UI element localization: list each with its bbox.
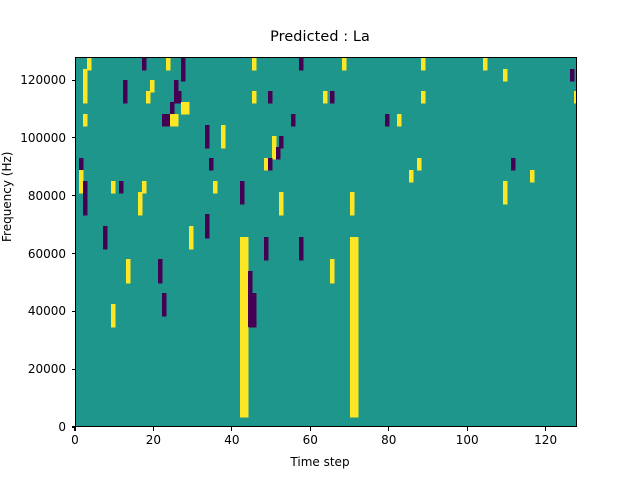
- y-tick-label: 120000: [0, 73, 66, 87]
- x-tick-mark: [545, 427, 546, 431]
- x-tick-label: 0: [71, 433, 79, 447]
- matplotlib-figure: Predicted : La 0200004000060000800001000…: [0, 0, 640, 480]
- heatmap-axes: [75, 57, 577, 427]
- x-tick-label: 100: [456, 433, 479, 447]
- x-tick-label: 60: [303, 433, 318, 447]
- x-tick-label: 80: [381, 433, 396, 447]
- x-tick-mark: [153, 427, 154, 431]
- y-tick-label: 60000: [0, 247, 66, 261]
- y-tick-label: 20000: [0, 362, 66, 376]
- x-tick-label: 40: [224, 433, 239, 447]
- x-tick-mark: [467, 427, 468, 431]
- y-tick-label: 0: [0, 420, 66, 434]
- heatmap-canvas: [76, 58, 577, 427]
- x-tick-mark: [388, 427, 389, 431]
- y-tick-label: 100000: [0, 131, 66, 145]
- x-tick-mark: [74, 427, 75, 431]
- x-tick-mark: [231, 427, 232, 431]
- x-tick-label: 120: [534, 433, 557, 447]
- x-axis-label: Time step: [0, 455, 640, 469]
- y-tick-label: 40000: [0, 304, 66, 318]
- x-tick-label: 20: [146, 433, 161, 447]
- y-axis-label: Frequency (Hz): [0, 152, 14, 243]
- x-tick-mark: [310, 427, 311, 431]
- figure-title: Predicted : La: [0, 29, 640, 45]
